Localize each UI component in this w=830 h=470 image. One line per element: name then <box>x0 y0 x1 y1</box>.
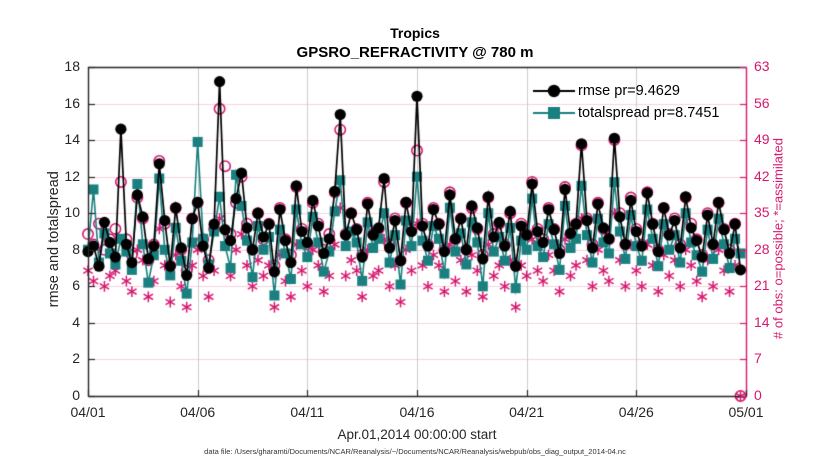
y-axis-left-tick-label: 4 <box>34 315 80 329</box>
y-axis-left-tick-label: 10 <box>34 205 80 219</box>
figure-container: Tropics GPSRO_REFRACTIVITY @ 780 m rmse … <box>0 0 830 470</box>
chart-title: Tropics <box>0 26 830 40</box>
x-axis-tick-label: 04/26 <box>601 405 671 419</box>
y-axis-left-tick-label: 16 <box>34 96 80 110</box>
legend-entry[interactable]: rmse pr=9.4629 <box>578 84 680 99</box>
legend-entry-label: rmse pr=9.4629 <box>578 83 680 99</box>
y-axis-left-tick-label: 12 <box>34 169 80 183</box>
y-axis-right-tick-label: 42 <box>754 169 800 183</box>
x-axis-tick-label: 04/21 <box>492 405 562 419</box>
y-axis-right-tick-label: 14 <box>754 315 800 329</box>
y-axis-right-tick-label: 56 <box>754 96 800 110</box>
y-axis-left-tick-label: 2 <box>34 351 80 365</box>
x-axis-tick-label: 04/01 <box>53 405 123 419</box>
y-axis-right-tick-label: 49 <box>754 132 800 146</box>
y-axis-right-tick-label: 21 <box>754 278 800 292</box>
y-axis-left-tick-label: 8 <box>34 242 80 256</box>
y-axis-right-tick-label: 28 <box>754 242 800 256</box>
chart-subtitle: GPSRO_REFRACTIVITY @ 780 m <box>0 45 830 60</box>
y-axis-right-tick-label: 35 <box>754 205 800 219</box>
data-file-caption: data file: /Users/gharamti/Documents/NCA… <box>0 448 830 456</box>
y-axis-right-tick-label: 63 <box>754 59 800 73</box>
chart-plot-area[interactable] <box>0 0 830 470</box>
legend-entry[interactable]: totalspread pr=8.7451 <box>578 106 719 121</box>
x-axis-tick-label: 04/11 <box>272 405 342 419</box>
y-axis-right-tick-label: 7 <box>754 351 800 365</box>
y-axis-left-tick-label: 18 <box>34 59 80 73</box>
y-axis-right-tick-label: 0 <box>754 388 800 402</box>
x-axis-label: Apr.01,2014 00:00:00 start <box>88 428 746 442</box>
y-axis-left-tick-label: 14 <box>34 132 80 146</box>
x-axis-tick-label: 04/06 <box>163 405 233 419</box>
legend-entry-label: totalspread pr=8.7451 <box>578 105 719 121</box>
y-axis-left-tick-label: 0 <box>34 388 80 402</box>
x-axis-tick-label: 04/16 <box>382 405 452 419</box>
y-axis-left-tick-label: 6 <box>34 278 80 292</box>
x-axis-tick-label: 05/01 <box>711 405 781 419</box>
